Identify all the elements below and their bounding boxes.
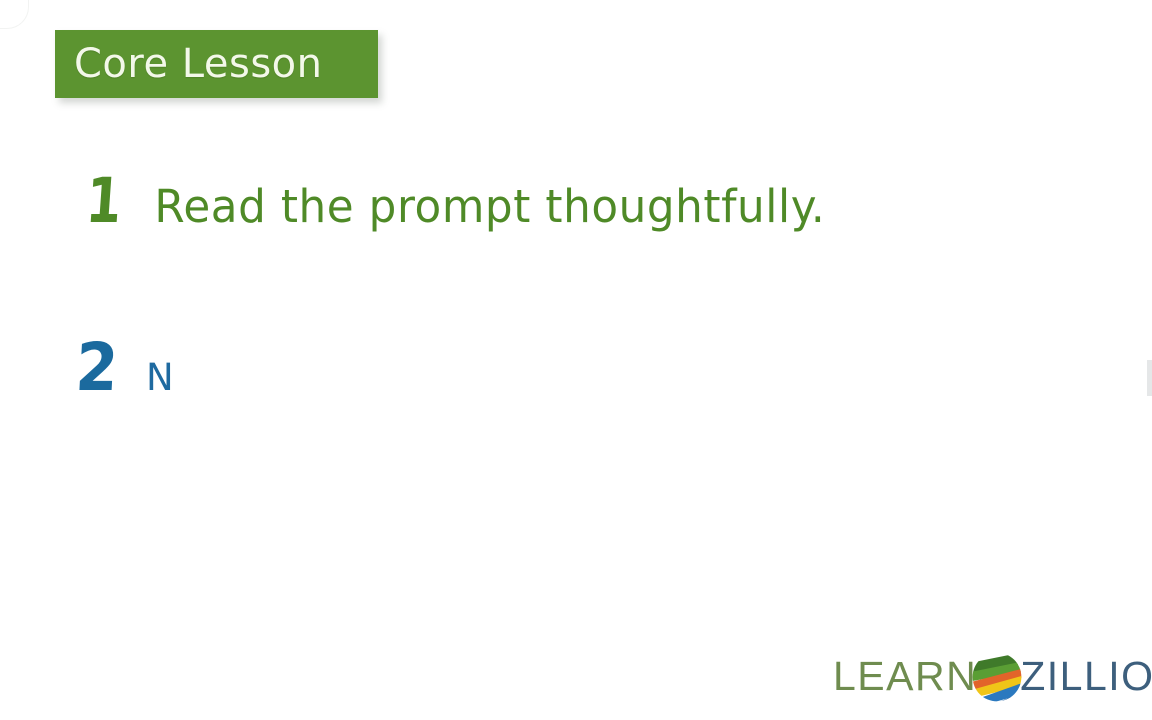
step-2-number: 2 [74,335,125,401]
logo-word-learn: LEARN [833,656,977,697]
logo-word-zillion: ZILLION [1020,656,1152,697]
right-edge-artifact [1147,360,1152,396]
core-lesson-banner-label: Core Lesson [55,44,323,84]
core-lesson-banner: Core Lesson [55,30,378,98]
step-2-text: N [146,359,174,396]
step-1-number: 1 [84,170,116,232]
lesson-step-1: 1 Read the prompt thoughtfully. [84,170,836,232]
globe-icon [968,648,1026,706]
step-1-text: Read the prompt thoughtfully. [154,184,825,229]
slide-canvas: Core Lesson 1 Read the prompt thoughtful… [0,0,1152,720]
learnzillion-logo: LEARN ZILLION [833,648,1152,704]
page-corner-artifact [0,0,29,29]
lesson-step-2: 2 N [74,335,174,401]
